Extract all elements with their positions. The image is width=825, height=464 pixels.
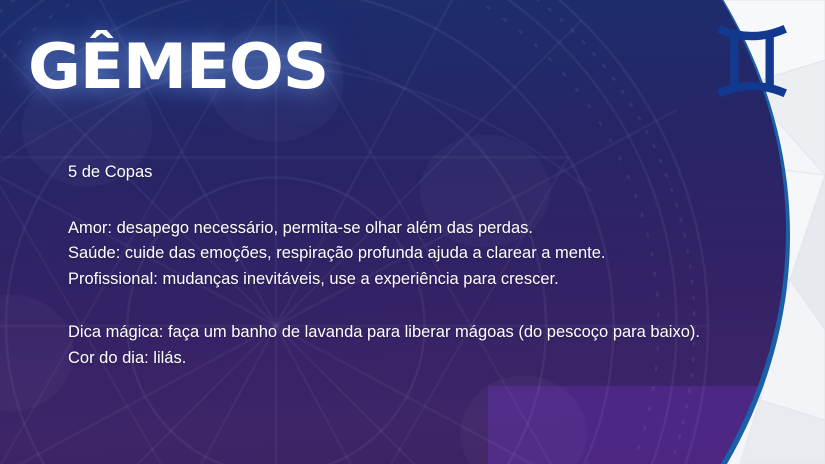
reading-line-health: Saúde: cuide das emoções, respiração pro… — [68, 241, 708, 267]
magic-tip-block: Dica mágica: faça um banho de lavanda pa… — [68, 320, 708, 371]
magic-tip: Dica mágica: faça um banho de lavanda pa… — [68, 320, 708, 346]
page-title: GÊMEOS — [28, 36, 328, 98]
reading-lines: Amor: desapego necessário, permita-se ol… — [68, 216, 708, 293]
reading-line-love: Amor: desapego necessário, permita-se ol… — [68, 216, 708, 242]
bright-purple-band — [488, 386, 786, 464]
gemini-icon — [700, 8, 804, 112]
color-of-day: Cor do dia: lilás. — [68, 346, 708, 372]
horoscope-card: GÊMEOS 5 de Copas Amor: desapego necessá… — [0, 0, 825, 464]
reading-line-professional: Profissional: mudanças inevitáveis, use … — [68, 267, 708, 293]
tarot-card-name: 5 de Copas — [68, 160, 708, 186]
reading-body: 5 de Copas Amor: desapego necessário, pe… — [68, 160, 708, 371]
